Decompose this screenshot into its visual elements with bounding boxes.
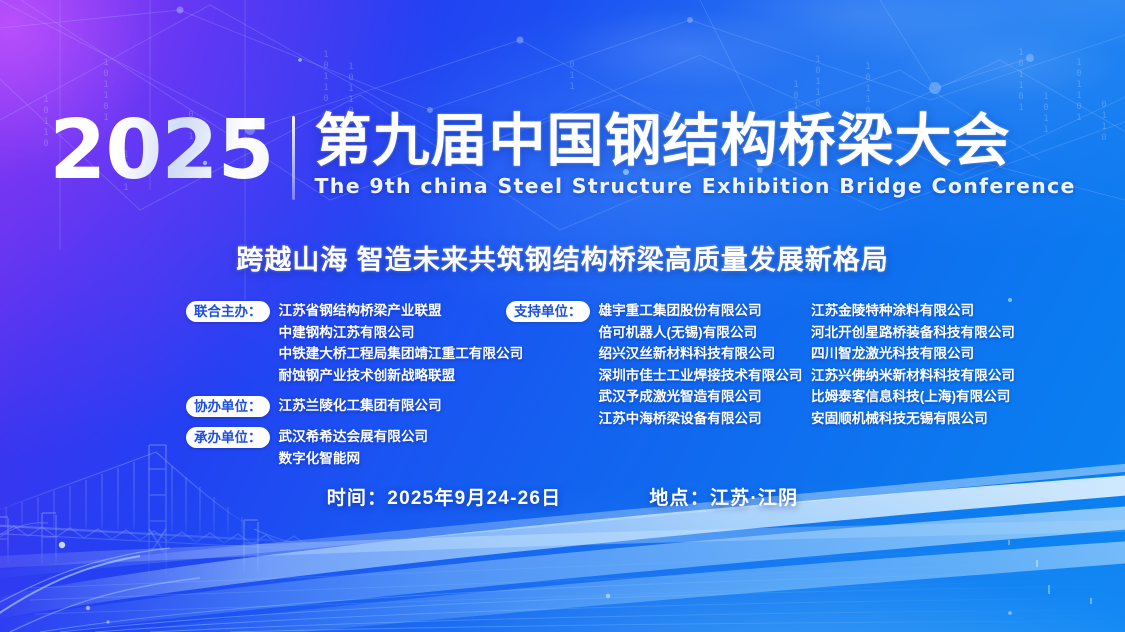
list-item: 江苏兰陵化工集团有限公司 xyxy=(279,395,442,417)
supporters-list-2: 江苏金陵特种涂料有限公司 河北开创星路桥装备科技有限公司 四川智龙激光科技有限公… xyxy=(811,300,1026,429)
co-organizer-badge: 协办单位： xyxy=(186,396,270,417)
list-item: 江苏金陵特种涂料有限公司 xyxy=(811,300,1026,322)
list-item: 中建钢构江苏有限公司 xyxy=(279,322,524,344)
conference-banner: 10110 101101 1011 011 10110 1011010 011 … xyxy=(0,0,1125,632)
title-block: 2025 第九届中国钢结构桥梁大会 The 9th china Steel St… xyxy=(0,112,1125,200)
organizers-middle-column: 支持单位： 雄宇重工集团股份有限公司 倍可机器人(无锡)有限公司 绍兴汉丝新材料… xyxy=(506,300,794,478)
event-date: 时间：2025年9月24-26日 xyxy=(327,483,562,510)
list-item: 中铁建大桥工程局集团靖江重工有限公司 xyxy=(279,343,524,365)
co-host-badge: 联合主办： xyxy=(186,301,270,322)
main-title-english: The 9th china Steel Structure Exhibition… xyxy=(315,174,1076,198)
list-item: 江苏兴佛纳米新材料科技有限公司 xyxy=(811,365,1026,387)
list-item: 武汉予成激光智造有限公司 xyxy=(599,386,803,408)
co-organizer-group: 协办单位： 江苏兰陵化工集团有限公司 xyxy=(186,395,506,417)
list-item: 比姆泰客信息科技(上海)有限公司 xyxy=(811,386,1026,408)
organizers-left-column: 联合主办： 江苏省钢结构桥梁产业联盟 中建钢构江苏有限公司 中铁建大桥工程局集团… xyxy=(186,300,506,478)
undertaker-group: 承办单位： 武汉希希达会展有限公司 数字化智能网 xyxy=(186,426,506,469)
organizers-columns: 联合主办： 江苏省钢结构桥梁产业联盟 中建钢构江苏有限公司 中铁建大桥工程局集团… xyxy=(186,300,1026,478)
list-item: 数字化智能网 xyxy=(279,448,429,470)
organizers-right-column: 江苏金陵特种涂料有限公司 河北开创星路桥装备科技有限公司 四川智龙激光科技有限公… xyxy=(794,300,1026,478)
undertaker-list: 武汉希希达会展有限公司 数字化智能网 xyxy=(279,426,429,469)
list-item: 绍兴汉丝新材料科技有限公司 xyxy=(599,343,803,365)
event-location: 地点：江苏·江阴 xyxy=(649,483,798,510)
title-text-group: 第九届中国钢结构桥梁大会 The 9th china Steel Structu… xyxy=(295,112,1076,198)
footer-info: 时间：2025年9月24-26日 地点：江苏·江阴 xyxy=(0,483,1125,510)
slogan-text: 跨越山海 智造未来共筑钢结构桥梁高质量发展新格局 xyxy=(0,238,1125,277)
list-item: 雄宇重工集团股份有限公司 xyxy=(599,300,803,322)
co-host-list: 江苏省钢结构桥梁产业联盟 中建钢构江苏有限公司 中铁建大桥工程局集团靖江重工有限… xyxy=(279,300,524,386)
organizers-section: 联合主办： 江苏省钢结构桥梁产业联盟 中建钢构江苏有限公司 中铁建大桥工程局集团… xyxy=(186,300,1026,478)
co-organizer-list: 江苏兰陵化工集团有限公司 xyxy=(279,395,442,417)
list-item: 武汉希希达会展有限公司 xyxy=(279,426,429,448)
supporters-group: 支持单位： 雄宇重工集团股份有限公司 倍可机器人(无锡)有限公司 绍兴汉丝新材料… xyxy=(506,300,794,429)
supporters-list-1: 雄宇重工集团股份有限公司 倍可机器人(无锡)有限公司 绍兴汉丝新材料科技有限公司… xyxy=(599,300,803,429)
list-item: 江苏省钢结构桥梁产业联盟 xyxy=(279,300,524,322)
undertaker-badge: 承办单位： xyxy=(186,427,270,448)
main-title-chinese: 第九届中国钢结构桥梁大会 xyxy=(315,112,1076,170)
supporters-badge: 支持单位： xyxy=(506,301,590,322)
year-text: 2025 xyxy=(49,112,291,191)
banner-content: 2025 第九届中国钢结构桥梁大会 The 9th china Steel St… xyxy=(0,0,1125,632)
list-item: 安固顺机械科技无锡有限公司 xyxy=(811,408,1026,430)
list-item: 深圳市佳士工业焊接技术有限公司 xyxy=(599,365,803,387)
list-item: 河北开创星路桥装备科技有限公司 xyxy=(811,322,1026,344)
co-host-group: 联合主办： 江苏省钢结构桥梁产业联盟 中建钢构江苏有限公司 中铁建大桥工程局集团… xyxy=(186,300,506,386)
list-item: 耐蚀钢产业技术创新战略联盟 xyxy=(279,365,524,387)
list-item: 江苏中海桥梁设备有限公司 xyxy=(599,408,803,430)
list-item: 倍可机器人(无锡)有限公司 xyxy=(599,322,803,344)
list-item: 四川智龙激光科技有限公司 xyxy=(811,343,1026,365)
